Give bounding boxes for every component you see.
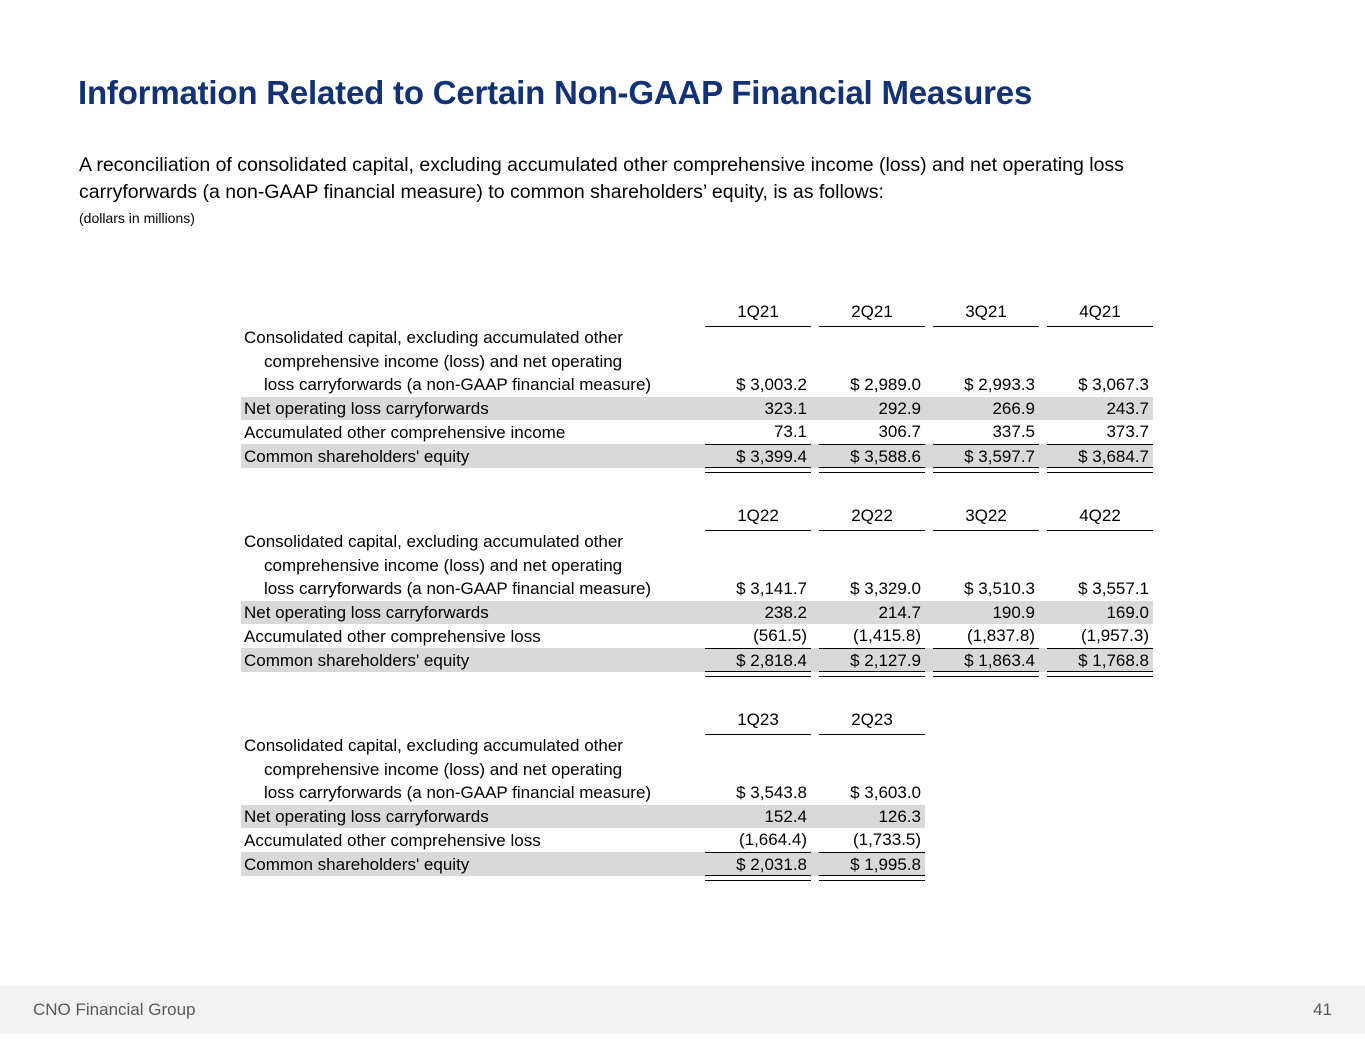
cell-value: $ 3,003.2 [705,326,811,397]
col-gap [1039,504,1047,530]
desc-line-3: loss carryforwards (a non-GAAP financial… [244,577,705,601]
table-row-total: Common shareholders' equity $ 2,031.8 $ … [241,852,925,876]
row-label-equity: Common shareholders' equity [241,444,705,468]
col-gap [811,397,819,421]
col-gap [1039,397,1047,421]
table-row: Accumulated other comprehensive income 7… [241,420,1153,444]
header-label-blank [241,708,705,734]
desc-line-1: Consolidated capital, excluding accumula… [244,734,705,758]
financial-table-fy2023: 1Q23 2Q23 Consolidated capital, excludin… [241,708,925,876]
footer-company-name: CNO Financial Group [33,1000,196,1020]
cell-value-total: $ 1,863.4 [933,648,1039,672]
cell-value: 306.7 [819,420,925,444]
cell-value: (1,664.4) [705,828,811,852]
column-header-q4: 4Q21 [1047,300,1153,326]
col-gap [925,326,933,397]
block-spacer [241,672,1131,708]
row-label-consolidated-capital: Consolidated capital, excluding accumula… [241,326,705,397]
cell-value: 152.4 [705,805,811,829]
cell-value: $ 3,557.1 [1047,530,1153,601]
col-gap [811,601,819,625]
col-gap [1039,648,1047,672]
reconciliation-tables: 1Q21 2Q21 3Q21 4Q21 Consolidated capital… [241,300,1131,876]
cell-value: 73.1 [705,420,811,444]
table-row: Consolidated capital, excluding accumula… [241,530,1153,601]
cell-value: (1,957.3) [1047,624,1153,648]
cell-value-total: $ 3,597.7 [933,444,1039,468]
column-header-q2: 2Q22 [819,504,925,530]
table-block-fy2023: 1Q23 2Q23 Consolidated capital, excludin… [241,708,1131,876]
cell-value: 292.9 [819,397,925,421]
desc-line-2: comprehensive income (loss) and net oper… [244,758,705,782]
table-row-total: Common shareholders' equity $ 3,399.4 $ … [241,444,1153,468]
col-gap [811,805,819,829]
col-gap [925,444,933,468]
cell-value-total: $ 3,399.4 [705,444,811,468]
desc-line-1: Consolidated capital, excluding accumula… [244,530,705,554]
footer-page-number: 41 [1313,1000,1332,1020]
table-row: Net operating loss carryforwards 323.1 2… [241,397,1153,421]
col-gap [811,708,819,734]
column-header-q2: 2Q23 [819,708,925,734]
col-gap [1039,530,1047,601]
col-gap [925,624,933,648]
table-block-fy2021: 1Q21 2Q21 3Q21 4Q21 Consolidated capital… [241,300,1131,468]
col-gap [811,624,819,648]
col-gap [1039,601,1047,625]
table-row: Accumulated other comprehensive loss (1,… [241,828,925,852]
header-label-blank [241,504,705,530]
footer-band [0,986,1365,1034]
column-header-q3: 3Q21 [933,300,1039,326]
row-label-consolidated-capital: Consolidated capital, excluding accumula… [241,530,705,601]
col-gap [1039,300,1047,326]
col-gap [925,300,933,326]
cell-value-total: $ 2,031.8 [705,852,811,876]
cell-value: $ 2,993.3 [933,326,1039,397]
cell-value: (1,837.8) [933,624,1039,648]
col-gap [925,601,933,625]
units-note: (dollars in millions) [79,210,195,226]
cell-value: (1,415.8) [819,624,925,648]
cell-value-total: $ 1,768.8 [1047,648,1153,672]
cell-value: 126.3 [819,805,925,829]
cell-value: 190.9 [933,601,1039,625]
col-gap [1039,624,1047,648]
column-header-q1: 1Q21 [705,300,811,326]
col-gap [1039,420,1047,444]
cell-value-total: $ 3,588.6 [819,444,925,468]
intro-paragraph: A reconciliation of consolidated capital… [79,152,1214,206]
desc-line-3: loss carryforwards (a non-GAAP financial… [244,373,705,397]
col-gap [925,530,933,601]
row-label-aoci: Accumulated other comprehensive loss [241,828,705,852]
row-label-equity: Common shareholders' equity [241,852,705,876]
financial-table-fy2021: 1Q21 2Q21 3Q21 4Q21 Consolidated capital… [241,300,1153,468]
col-gap [811,530,819,601]
row-label-aoci: Accumulated other comprehensive income [241,420,705,444]
column-header-q2: 2Q21 [819,300,925,326]
col-gap [925,504,933,530]
col-gap [1039,444,1047,468]
row-label-nol: Net operating loss carryforwards [241,805,705,829]
col-gap [811,444,819,468]
column-header-q4: 4Q22 [1047,504,1153,530]
desc-line-1: Consolidated capital, excluding accumula… [244,326,705,350]
row-label-consolidated-capital: Consolidated capital, excluding accumula… [241,734,705,805]
cell-value-total: $ 2,127.9 [819,648,925,672]
cell-value: 238.2 [705,601,811,625]
col-gap [811,300,819,326]
header-label-blank [241,300,705,326]
col-gap [811,648,819,672]
financial-table-fy2022: 1Q22 2Q22 3Q22 4Q22 Consolidated capital… [241,504,1153,672]
table-block-fy2022: 1Q22 2Q22 3Q22 4Q22 Consolidated capital… [241,504,1131,672]
cell-value: $ 2,989.0 [819,326,925,397]
cell-value: 266.9 [933,397,1039,421]
cell-value-total: $ 1,995.8 [819,852,925,876]
table-row: Net operating loss carryforwards 152.4 1… [241,805,925,829]
desc-line-3: loss carryforwards (a non-GAAP financial… [244,781,705,805]
block-spacer [241,468,1131,504]
column-header-q3: 3Q22 [933,504,1039,530]
table-row-total: Common shareholders' equity $ 2,818.4 $ … [241,648,1153,672]
cell-value: 323.1 [705,397,811,421]
table-header-row: 1Q22 2Q22 3Q22 4Q22 [241,504,1153,530]
cell-value-total: $ 2,818.4 [705,648,811,672]
cell-value-total: $ 3,684.7 [1047,444,1153,468]
cell-value: (1,733.5) [819,828,925,852]
cell-value: 373.7 [1047,420,1153,444]
row-label-equity: Common shareholders' equity [241,648,705,672]
col-gap [925,420,933,444]
table-row: Consolidated capital, excluding accumula… [241,734,925,805]
cell-value: 337.5 [933,420,1039,444]
column-header-q1: 1Q23 [705,708,811,734]
desc-line-2: comprehensive income (loss) and net oper… [244,350,705,374]
table-row: Net operating loss carryforwards 238.2 2… [241,601,1153,625]
cell-value: 243.7 [1047,397,1153,421]
cell-value: 169.0 [1047,601,1153,625]
table-row: Accumulated other comprehensive loss (56… [241,624,1153,648]
col-gap [811,504,819,530]
row-label-nol: Net operating loss carryforwards [241,397,705,421]
col-gap [925,648,933,672]
cell-value: $ 3,067.3 [1047,326,1153,397]
cell-value: 214.7 [819,601,925,625]
col-gap [1039,326,1047,397]
desc-line-2: comprehensive income (loss) and net oper… [244,554,705,578]
col-gap [925,397,933,421]
col-gap [811,828,819,852]
col-gap [811,326,819,397]
table-row: Consolidated capital, excluding accumula… [241,326,1153,397]
table-header-row: 1Q21 2Q21 3Q21 4Q21 [241,300,1153,326]
column-header-q1: 1Q22 [705,504,811,530]
col-gap [811,734,819,805]
col-gap [811,852,819,876]
cell-value: $ 3,141.7 [705,530,811,601]
cell-value: (561.5) [705,624,811,648]
row-label-aoci: Accumulated other comprehensive loss [241,624,705,648]
cell-value: $ 3,329.0 [819,530,925,601]
col-gap [811,420,819,444]
cell-value: $ 3,603.0 [819,734,925,805]
page-title: Information Related to Certain Non-GAAP … [78,74,1032,112]
row-label-nol: Net operating loss carryforwards [241,601,705,625]
table-header-row: 1Q23 2Q23 [241,708,925,734]
cell-value: $ 3,543.8 [705,734,811,805]
cell-value: $ 3,510.3 [933,530,1039,601]
